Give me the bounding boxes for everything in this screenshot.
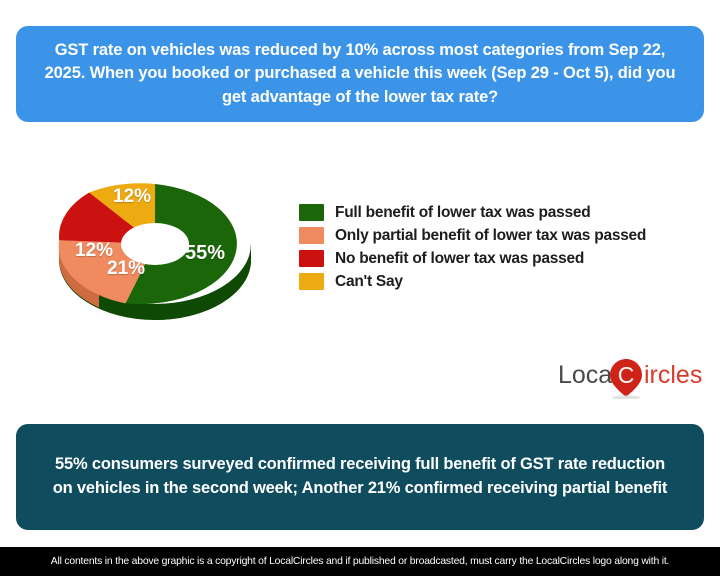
chart-legend: Full benefit of lower tax was passed Onl… <box>299 202 646 294</box>
legend-swatch-icon-no-benefit <box>299 250 324 267</box>
legend-item-cant-say: Can't Say <box>299 271 646 292</box>
slice-label-cant-say: 12% <box>113 186 151 208</box>
legend-item-no-benefit: No benefit of lower tax was passed <box>299 248 646 269</box>
copyright-footer: All contents in the above graphic is a c… <box>0 547 720 576</box>
conclusion-banner: 55% consumers surveyed confirmed receivi… <box>16 424 704 530</box>
legend-swatch-icon-full-benefit <box>299 204 324 221</box>
pin-shadow <box>612 395 640 399</box>
legend-label-no-benefit: No benefit of lower tax was passed <box>335 250 584 268</box>
legend-item-partial-benefit: Only partial benefit of lower tax was pa… <box>299 225 646 246</box>
slice-label-full-benefit: 55% <box>185 242 225 265</box>
legend-label-cant-say: Can't Say <box>335 273 403 291</box>
question-banner: GST rate on vehicles was reduced by 10% … <box>16 26 704 122</box>
copyright-text: All contents in the above graphic is a c… <box>51 556 669 567</box>
logo-text-left: Local <box>558 361 618 389</box>
legend-label-full-benefit: Full benefit of lower tax was passed <box>335 204 590 222</box>
localcircles-logo: Local C ircles <box>558 357 704 399</box>
infographic-canvas: GST rate on vehicles was reduced by 10% … <box>0 0 720 576</box>
legend-swatch-icon-cant-say <box>299 273 324 290</box>
slice-label-no-benefit: 12% <box>75 240 113 262</box>
legend-label-partial-benefit: Only partial benefit of lower tax was pa… <box>335 227 646 245</box>
conclusion-text: 55% consumers surveyed confirmed receivi… <box>46 453 674 501</box>
legend-swatch-icon-partial-benefit <box>299 227 324 244</box>
localcircles-logo-icon: Local C ircles <box>558 357 704 399</box>
logo-text-right: ircles <box>644 361 702 389</box>
question-text: GST rate on vehicles was reduced by 10% … <box>42 39 678 109</box>
legend-item-full-benefit: Full benefit of lower tax was passed <box>299 202 646 223</box>
logo-pin-letter: C <box>618 362 635 388</box>
